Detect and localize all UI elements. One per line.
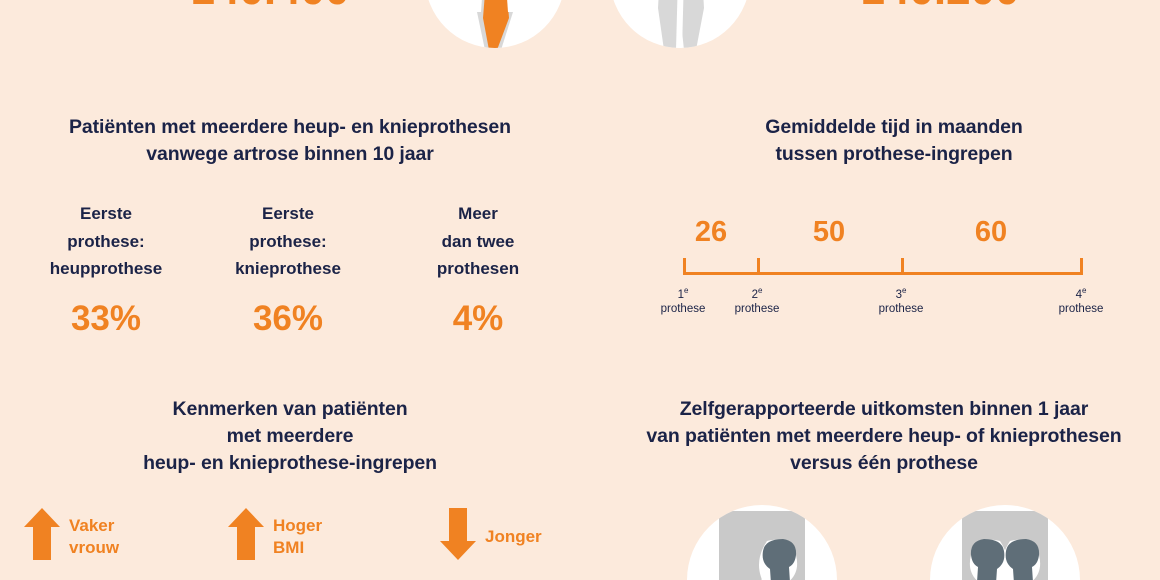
traits-headline-line-2: met meerdere (20, 423, 560, 450)
timeline-interval-value-1: 26 (660, 217, 762, 247)
trait-item-jonger: Jonger (440, 508, 542, 565)
timeline-tick-2 (757, 258, 760, 275)
tick-caption-text-4: prothese (1026, 302, 1136, 316)
arrow-up-icon (24, 508, 60, 565)
arrow-up-icon (228, 508, 264, 565)
tick-caption-text-2: prothese (702, 302, 812, 316)
infographic-page: 140.400 140.200 Patiënten met meerdere h… (0, 0, 1160, 580)
timeline-tick-1 (683, 258, 686, 275)
panel-patient-traits-headline: Kenmerken van patiënten met meerdere heu… (20, 396, 560, 477)
tick-suffix-2: e (758, 286, 762, 295)
prosthesis-interval-timeline: 26 50 60 1e prothese 2e prothese 3e prot… (0, 0, 1160, 580)
timeline-tick-caption-4: 4e prothese (1026, 284, 1136, 316)
trait-label-jonger: Jonger (485, 526, 542, 548)
timeline-tick-caption-3: 3e prothese (846, 284, 956, 316)
timeline-axis (683, 272, 1083, 275)
arrow-down-icon (440, 508, 476, 565)
tick-suffix-4: e (1082, 286, 1086, 295)
tick-caption-text-3: prothese (846, 302, 956, 316)
trait-item-hoger-bmi: Hoger BMI (228, 508, 322, 565)
timeline-interval-value-3: 60 (940, 217, 1042, 247)
timeline-interval-value-2: 50 (778, 217, 880, 247)
tick-suffix-3: e (902, 286, 906, 295)
timeline-tick-3 (901, 258, 904, 275)
panel-self-reported-headline: Zelfgerapporteerde uitkomsten binnen 1 j… (610, 396, 1158, 477)
self-reported-headline-line-1: Zelfgerapporteerde uitkomsten binnen 1 j… (610, 396, 1158, 423)
tick-suffix-1: e (684, 286, 688, 295)
trait-label-vaker-vrouw: Vaker vrouw (69, 515, 119, 559)
timeline-tick-caption-2: 2e prothese (702, 284, 812, 316)
trait-label-hoger-bmi: Hoger BMI (273, 515, 322, 559)
traits-headline-line-3: heup- en knieprothese-ingrepen (20, 450, 560, 477)
self-reported-headline-line-2: van patiënten met meerdere heup- of knie… (610, 423, 1158, 450)
traits-headline-line-1: Kenmerken van patiënten (20, 396, 560, 423)
trait-item-vaker-vrouw: Vaker vrouw (24, 508, 119, 565)
self-reported-headline-line-3: versus één prothese (610, 450, 1158, 477)
timeline-tick-4 (1080, 258, 1083, 275)
